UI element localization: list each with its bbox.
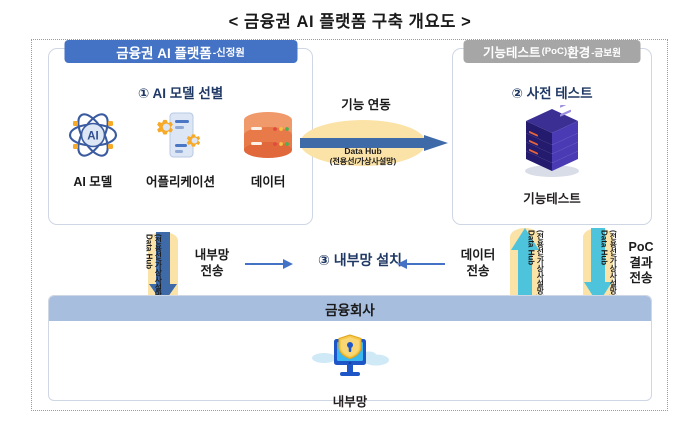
platform-panel-header: 금융권 AI 플랫폼-신정원 (64, 40, 297, 63)
poc-panel-header: 기능테스트(PoC)환경-금보원 (464, 40, 641, 63)
platform-item-ai-model: AI AI 모델 (54, 107, 132, 190)
svg-text:AI: AI (87, 131, 99, 143)
monitor-shield-icon (311, 333, 389, 385)
poc-icon-wrap: 기능테스트 (453, 105, 651, 207)
company-panel-header: 금융회사 (49, 296, 651, 321)
function-link-caption: 기능 연동 (300, 94, 432, 113)
step-1-title: ① AI 모델 선별 (49, 82, 312, 102)
platform-header-main: 금융권 AI 플랫폼 (116, 42, 212, 62)
arrow-right-thin-icon (245, 258, 293, 270)
database-icon (229, 107, 307, 163)
poc-header-paren: (PoC) (542, 46, 568, 57)
server-stack-icon (516, 105, 588, 179)
platform-panel: 금융권 AI 플랫폼-신정원 ① AI 모델 선별 AI AI 모델 (48, 48, 313, 225)
platform-item-application: 어플리케이션 (141, 107, 219, 190)
platform-item-label: 데이터 (229, 171, 307, 190)
caption-poc-result: PoC 결과 전송 (619, 240, 663, 287)
poc-panel: 기능테스트(PoC)환경-금보원 ② 사전 테스트 (452, 48, 652, 225)
arrow-left-thin-icon (397, 258, 445, 270)
data-hub-name: Data Hub (300, 147, 426, 157)
poc-header-sub: -금보원 (591, 45, 621, 59)
ai-atom-icon: AI (54, 107, 132, 163)
company-icon-label: 내부망 (49, 391, 651, 410)
data-hub-data-transfer: Data Hub (전용선/가상사설망) (505, 228, 545, 304)
data-hub-internal-transfer: Data Hub (전용선/가상사설망) (143, 232, 183, 304)
caption-data-transfer: 데이터 전송 (452, 248, 504, 279)
poc-header-main: 기능테스트 (483, 42, 541, 61)
platform-item-data: 데이터 (229, 107, 307, 190)
platform-icon-row: AI AI 모델 (49, 107, 312, 190)
data-hub-horizontal: 기능 연동 Data Hub (전용선/가상사설망) (300, 116, 448, 168)
poc-icon-label: 기능테스트 (453, 188, 651, 207)
poc-header-tail: 환경 (567, 42, 590, 61)
page-title: < 금융권 AI 플랫폼 구축 개요도 > (0, 8, 700, 32)
company-panel: 금융회사 내부망 (48, 295, 652, 401)
platform-header-sub: -신정원 (213, 44, 245, 59)
platform-item-label: 어플리케이션 (141, 171, 219, 190)
gears-phone-icon (141, 107, 219, 163)
data-hub-network: (전용선/가상사설망) (300, 157, 426, 166)
step-2-title: ② 사전 테스트 (453, 82, 651, 102)
caption-internal-transfer: 내부망 전송 (182, 248, 242, 279)
data-hub-poc-result: Data Hub (전용선/가상사설망) (578, 228, 618, 304)
platform-item-label: AI 모델 (54, 171, 132, 190)
company-icon-wrap: 내부망 (49, 333, 651, 410)
